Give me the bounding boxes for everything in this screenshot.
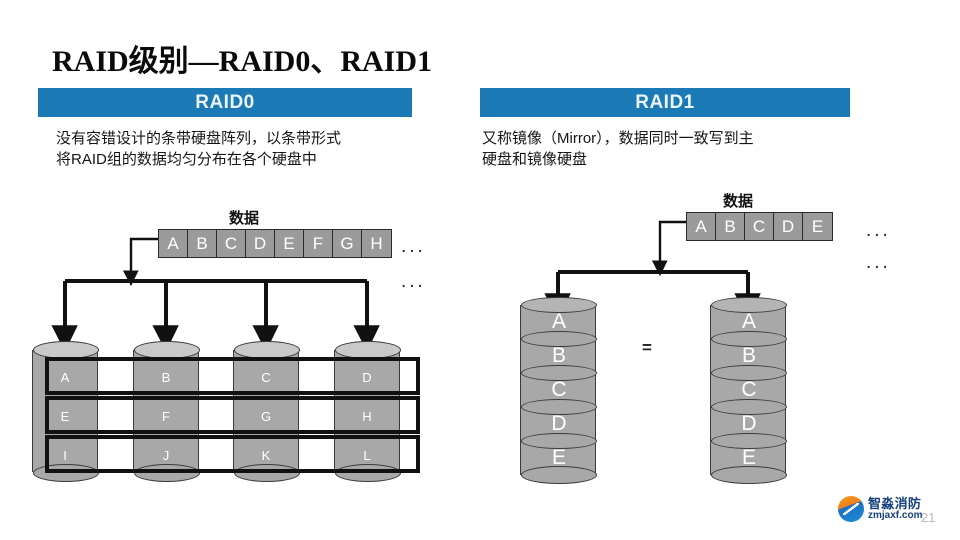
section-header-raid1: RAID1 — [480, 88, 850, 117]
section-header-raid1-label: RAID1 — [635, 92, 695, 114]
disk-block-label: C — [711, 373, 787, 407]
data-block-row-raid1: A B C D E — [686, 212, 833, 241]
watermark: 智淼消防 zmjaxf.com — [838, 496, 922, 522]
raid0-block-label: I — [32, 448, 98, 463]
disk-segment: D — [520, 407, 596, 441]
raid1-mirror-disk: A B C D E — [710, 305, 786, 475]
raid0-block-label: F — [133, 409, 199, 424]
raid1-data-feed-arrow — [660, 222, 686, 268]
disk-block-label: A — [711, 305, 787, 339]
data-block: A — [687, 213, 716, 240]
data-label-raid1: 数据 — [723, 190, 753, 211]
raid0-block-label: K — [233, 448, 299, 463]
disk-block-label: D — [521, 407, 597, 441]
watermark-text: 智淼消防 zmjaxf.com — [868, 497, 922, 521]
disk-block-label: A — [521, 305, 597, 339]
raid0-disk-array — [0, 0, 460, 200]
overflow-ellipsis: ... — [866, 221, 891, 240]
raid0-block-label: B — [133, 370, 199, 385]
raid1-primary-disk: A B C D E — [520, 305, 596, 475]
raid0-block-label: D — [334, 370, 400, 385]
disk-block-label: B — [711, 339, 787, 373]
disk-segment: C — [520, 373, 596, 407]
overflow-ellipsis: ... — [866, 253, 891, 272]
raid0-block-label: L — [334, 448, 400, 463]
disk-segment: E — [520, 441, 596, 475]
disk-segment: B — [520, 339, 596, 373]
watermark-brand-name: 智淼消防 — [868, 497, 922, 511]
disk-segment: D — [710, 407, 786, 441]
raid0-block-label: C — [233, 370, 299, 385]
disk-block-label: C — [521, 373, 597, 407]
raid0-block-label: A — [32, 370, 98, 385]
disk-segment: E — [710, 441, 786, 475]
raid0-block-label: H — [334, 409, 400, 424]
disk-block-label: B — [521, 339, 597, 373]
disk-block-label: E — [521, 441, 597, 475]
raid0-block-label: G — [233, 409, 299, 424]
disk-block-label: E — [711, 441, 787, 475]
brand-logo-icon — [838, 496, 864, 522]
section-description-raid1: 又称镜像（Mirror），数据同时一致写到主 硬盘和镜像硬盘 — [482, 128, 854, 170]
disk-block-label: D — [711, 407, 787, 441]
disk-segment: A — [710, 305, 786, 339]
disk-segment: A — [520, 305, 596, 339]
watermark-url: zmjaxf.com — [868, 511, 922, 522]
disk-segment: C — [710, 373, 786, 407]
slide-canvas: RAID级别—RAID0、RAID1 RAID0 没有容错设计的条带硬盘阵列，以… — [0, 0, 960, 540]
raid0-block-label: J — [133, 448, 199, 463]
data-block: C — [745, 213, 774, 240]
data-block: B — [716, 213, 745, 240]
data-feed-arrow — [131, 239, 158, 278]
disk-segment: B — [710, 339, 786, 373]
mirror-equals-symbol: = — [642, 338, 652, 358]
raid0-block-label: E — [32, 409, 98, 424]
data-block: D — [774, 213, 803, 240]
page-number: 21 — [921, 510, 935, 525]
data-block: E — [803, 213, 832, 240]
